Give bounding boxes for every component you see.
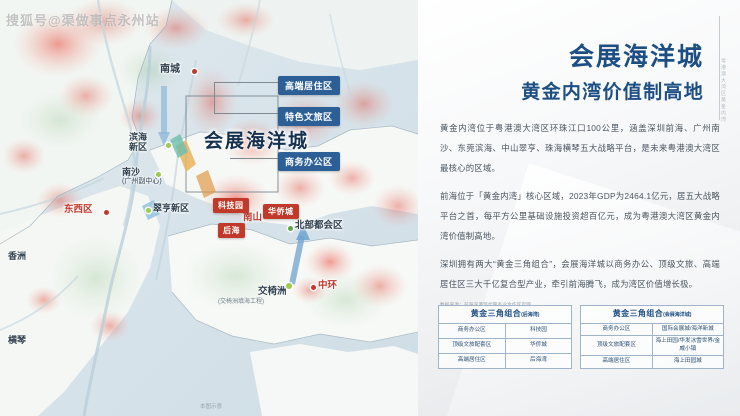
table-cell-value: 海上田园城 — [652, 356, 723, 369]
table-cell-label: 高端居住区 — [581, 356, 652, 369]
table-title-text: 黄金三角组合 — [471, 309, 521, 318]
table-cell-label: 顶级文旅配套区 — [439, 338, 506, 353]
map-center-title: 会展海洋城 — [204, 126, 309, 153]
leader-line-1 — [214, 82, 278, 83]
info-pane: 粤港澳大湾区黄金内湾 会展海洋城 黄金内湾价值制高地 黄金内湾位于粤港澳大湾区环… — [418, 0, 740, 416]
map-marker-dot[interactable] — [146, 208, 151, 213]
leader-line-4 — [230, 158, 278, 159]
table-row: 商务办公区国际会展城/海洋新城 — [581, 323, 724, 336]
map-city-label[interactable]: 南城 — [160, 64, 180, 75]
tables-block: 黄金三角组合(后海湾) 商务办公区科技园顶级文旅配套区华侨城高端居住区后海湾 黄… — [438, 305, 724, 369]
table-title: 黄金三角组合(会展海洋城) — [581, 306, 724, 324]
map-city-label[interactable]: 横琴 — [8, 336, 26, 346]
map-zone-chip[interactable]: 商务办公区 — [278, 152, 340, 171]
map-city-label[interactable]: 北部都会区 — [295, 221, 343, 231]
map-zone-chip[interactable]: 科技园 — [213, 198, 249, 213]
map-marker-dot[interactable] — [286, 283, 292, 289]
map-marker-dot[interactable] — [192, 69, 197, 74]
table-row: 顶级文旅配套区海上田园/华发冰雪世界/金威小镇 — [581, 336, 724, 356]
table-row: 高端居住区后海湾 — [439, 353, 572, 368]
paragraph: 前海位于「黄金内湾」核心区域，2023年GDP为2464.1亿元，居五大战略平台… — [440, 186, 720, 246]
map-zone-chip[interactable]: 特色文旅区 — [278, 107, 340, 126]
leader-line-3 — [214, 113, 278, 114]
table-cell-value: 后海湾 — [505, 353, 572, 368]
paragraph: 黄金内湾位于粤港澳大湾区环珠江口100公里，涵盖深圳前海、广州南沙、东莞滨海、中… — [440, 118, 720, 178]
table-title-text: 黄金三角组合 — [613, 309, 663, 318]
map-pane[interactable]: 搜狐号@渠做事点永州站 南城滨海新区南沙(广州副中心)东西区翠亨新区南山北部都会… — [0, 0, 418, 416]
map-city-label[interactable]: 翠亨新区 — [153, 204, 189, 214]
table-cell-label: 商务办公区 — [581, 323, 652, 336]
map-marker-dot[interactable] — [311, 285, 316, 290]
map-marker-dot[interactable] — [156, 172, 161, 177]
table-cell-label: 顶级文旅配套区 — [581, 336, 652, 356]
leader-line-2 — [214, 82, 215, 114]
table-title: 黄金三角组合(后海湾) — [439, 306, 572, 324]
map-marker-dot[interactable] — [104, 210, 109, 215]
table-cell-value: 国际会展城/海洋新城 — [652, 323, 723, 336]
vertical-note: 粤港澳大湾区黄金内湾 — [720, 58, 727, 123]
table-caption: (会展海洋城) — [663, 312, 691, 318]
table-cell-value: 华侨城 — [505, 338, 572, 353]
table-row: 商务办公区科技园 — [439, 323, 572, 338]
golden-triangle-table-houhai: 黄金三角组合(后海湾) 商务办公区科技园顶级文旅配套区华侨城高端居住区后海湾 — [438, 305, 572, 369]
paragraph: 深圳拥有两大“黄金三角组合”，会展海洋城以商务办公、顶级文旅、高端居住区三大千亿… — [440, 254, 720, 294]
table-cell-value: 海上田园/华发冰雪世界/金威小镇 — [652, 336, 723, 356]
map-city-label[interactable]: 香洲 — [8, 252, 26, 262]
map-city-sublabel: (广州副中心) — [122, 178, 162, 186]
table-cell-label: 商务办公区 — [439, 323, 506, 338]
map-marker-dot[interactable] — [288, 226, 293, 231]
map-canvas — [0, 0, 418, 416]
table-cell-value: 科技园 — [505, 323, 572, 338]
map-city-label[interactable]: 中环 — [318, 281, 337, 291]
map-zone-chip[interactable]: 高端居住区 — [278, 76, 340, 95]
map-zone-chip[interactable]: 后海 — [218, 223, 245, 238]
body-copy: 黄金内湾位于粤港澳大湾区环珠江口100公里，涵盖深圳前海、广州南沙、东莞滨海、中… — [440, 118, 720, 308]
table-row: 顶级文旅配套区华侨城 — [439, 338, 572, 353]
table-row: 高端居住区海上田园城 — [581, 356, 724, 369]
map-zone-chip[interactable]: 华侨城 — [263, 204, 299, 219]
map-city-label[interactable]: 南山 — [243, 213, 262, 223]
map-city-label[interactable]: 南沙(广州副中心) — [122, 168, 162, 186]
page-subtitle: 黄金内湾价值制高地 — [418, 77, 704, 104]
map-city-label[interactable]: 东西区 — [64, 205, 93, 215]
page-title: 会展海洋城 — [418, 42, 704, 73]
map-marker-dot[interactable] — [166, 143, 171, 148]
map-credit: 本图示意 — [200, 402, 222, 410]
map-note: (交椅洲填海工程) — [218, 296, 264, 305]
map-city-label[interactable]: 滨海新区 — [129, 133, 147, 153]
table-cell-label: 高端居住区 — [439, 353, 506, 368]
headline-block: 会展海洋城 黄金内湾价值制高地 — [418, 42, 704, 104]
table-caption: (后海湾) — [521, 312, 539, 318]
golden-triangle-table-oceancity: 黄金三角组合(会展海洋城) 商务办公区国际会展城/海洋新城顶级文旅配套区海上田园… — [580, 305, 724, 369]
poster-page: 搜狐号@渠做事点永州站 南城滨海新区南沙(广州副中心)东西区翠亨新区南山北部都会… — [0, 0, 740, 416]
